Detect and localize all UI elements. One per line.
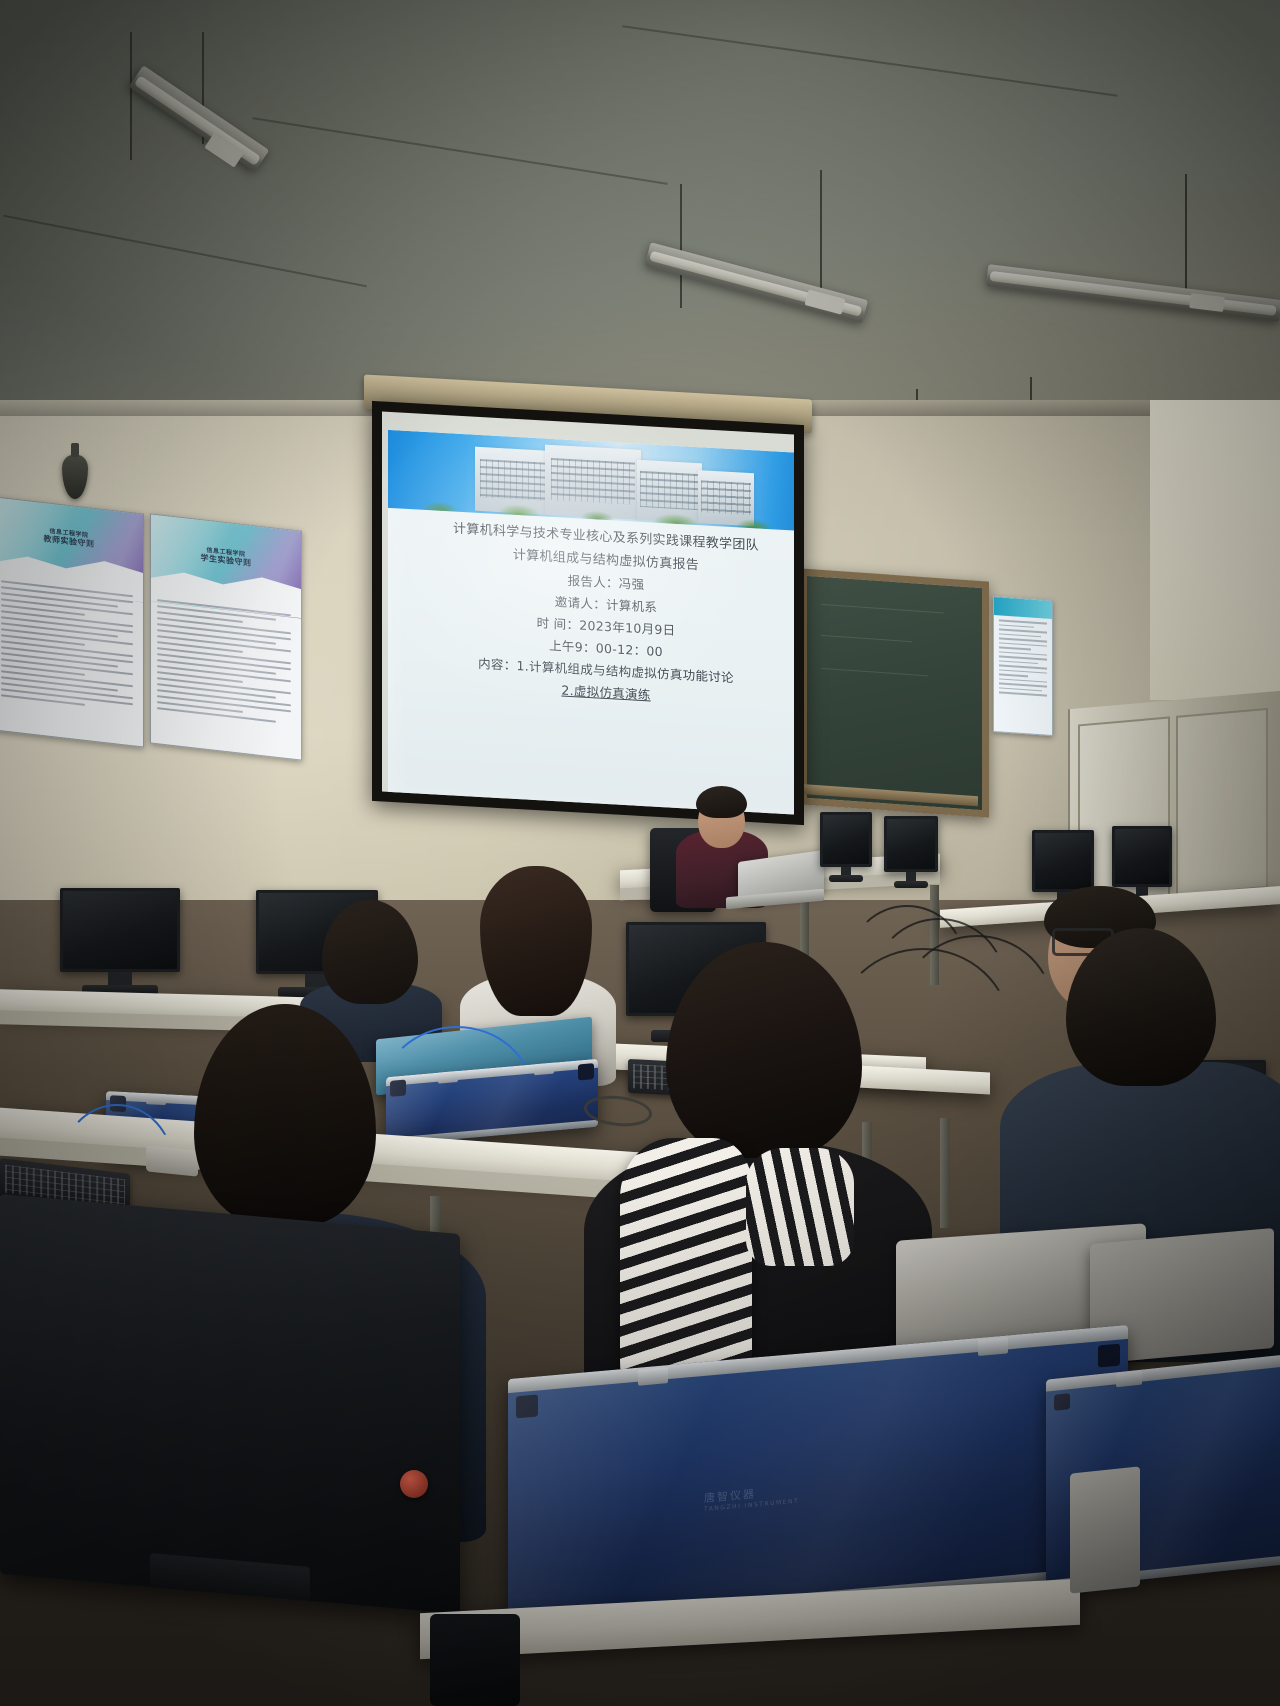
projection-screen: 计算机科学与技术专业核心及系列实践课程教学团队 计算机组成与结构虚拟仿真报告 报… [372, 383, 804, 835]
audience-midleft-hair [480, 866, 592, 1016]
foreground-device[interactable] [430, 1614, 520, 1706]
wall-poster-student-rules: 信息工程学院 学生实验守则 [150, 513, 302, 760]
wall-poster-lab-safety [993, 596, 1053, 736]
frontleft-hair [194, 1004, 376, 1226]
screen-frame: 计算机科学与技术专业核心及系列实践课程教学团队 计算机组成与结构虚拟仿真报告 报… [372, 401, 804, 825]
center-hair [666, 942, 862, 1158]
presenter-hair [696, 786, 747, 818]
wall-poster-teacher-rules: 信息工程学院 教师实验守则 [0, 496, 144, 747]
desk-leg [940, 1118, 950, 1228]
slide-text-block: 计算机科学与技术专业核心及系列实践课程教学团队 计算机组成与结构虚拟仿真报告 报… [388, 508, 794, 716]
window-right [1150, 400, 1280, 700]
power-indicator-icon [400, 1470, 428, 1498]
striped-scarf-collar [746, 1148, 854, 1266]
presentation-slide: 计算机科学与技术专业核心及系列实践课程教学团队 计算机组成与结构虚拟仿真报告 报… [388, 430, 794, 815]
lab-monitor-left-1[interactable] [60, 888, 180, 996]
classroom-photo: 信息工程学院 教师实验守则 信息工程学院 学生实验守则 [0, 0, 1280, 1706]
back-monitor-2[interactable] [884, 816, 938, 888]
poster-glare [151, 514, 301, 759]
right-hair [1066, 928, 1216, 1086]
ceiling-shadow [0, 0, 1280, 430]
blackboard [800, 568, 989, 817]
cable-connector [1070, 1466, 1140, 1593]
foreground-monitor-back[interactable] [0, 1194, 460, 1614]
audience-leftback-hair [322, 900, 418, 1004]
screen-surface: 计算机科学与技术专业核心及系列实践课程教学团队 计算机组成与结构虚拟仿真报告 报… [382, 411, 794, 814]
back-monitor-1[interactable] [820, 812, 872, 882]
poster-glare [0, 498, 143, 747]
